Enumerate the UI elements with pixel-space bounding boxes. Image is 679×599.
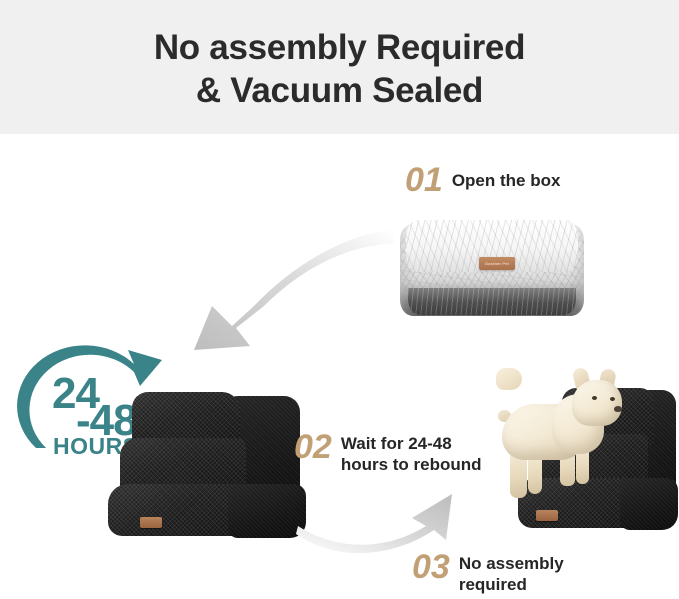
step-01-number: 01: [405, 163, 443, 197]
step-02-text: Wait for 24-48 hours to rebound: [341, 433, 482, 475]
step-01-text: Open the box: [452, 170, 561, 191]
step-03-text: No assembly required: [459, 553, 564, 595]
stairs-left-leather-tag: [140, 517, 162, 528]
package-brand-label: Gardner Pet: [479, 257, 515, 270]
french-bulldog-illustration: [496, 368, 634, 518]
arrow-box-to-stairs-icon: [168, 222, 394, 356]
page-title: No assembly Required & Vacuum Sealed: [0, 26, 679, 112]
step-03-number: 03: [412, 550, 450, 584]
package-shadow-base: [408, 288, 576, 315]
dog-muzzle: [496, 368, 522, 390]
step-02-number: 02: [294, 430, 332, 464]
dog-nose: [614, 406, 622, 412]
step-03: 03 No assembly required: [412, 553, 564, 595]
dog-head: [572, 380, 622, 426]
page-title-line-2: & Vacuum Sealed: [0, 69, 679, 112]
page-title-line-1: No assembly Required: [154, 28, 525, 67]
vacuum-sealed-package-illustration: Gardner Pet: [396, 214, 588, 324]
infographic-canvas: No assembly Required & Vacuum Sealed Gar…: [0, 0, 679, 599]
stairs-left-base-panel: [228, 484, 306, 538]
step-01: 01 Open the box: [405, 163, 560, 197]
dog-eye-right: [610, 397, 615, 401]
dog-eye-left: [592, 396, 597, 400]
step-02: 02 Wait for 24-48 hours to rebound: [294, 433, 482, 475]
pet-stairs-rebounding-illustration: [96, 388, 310, 544]
